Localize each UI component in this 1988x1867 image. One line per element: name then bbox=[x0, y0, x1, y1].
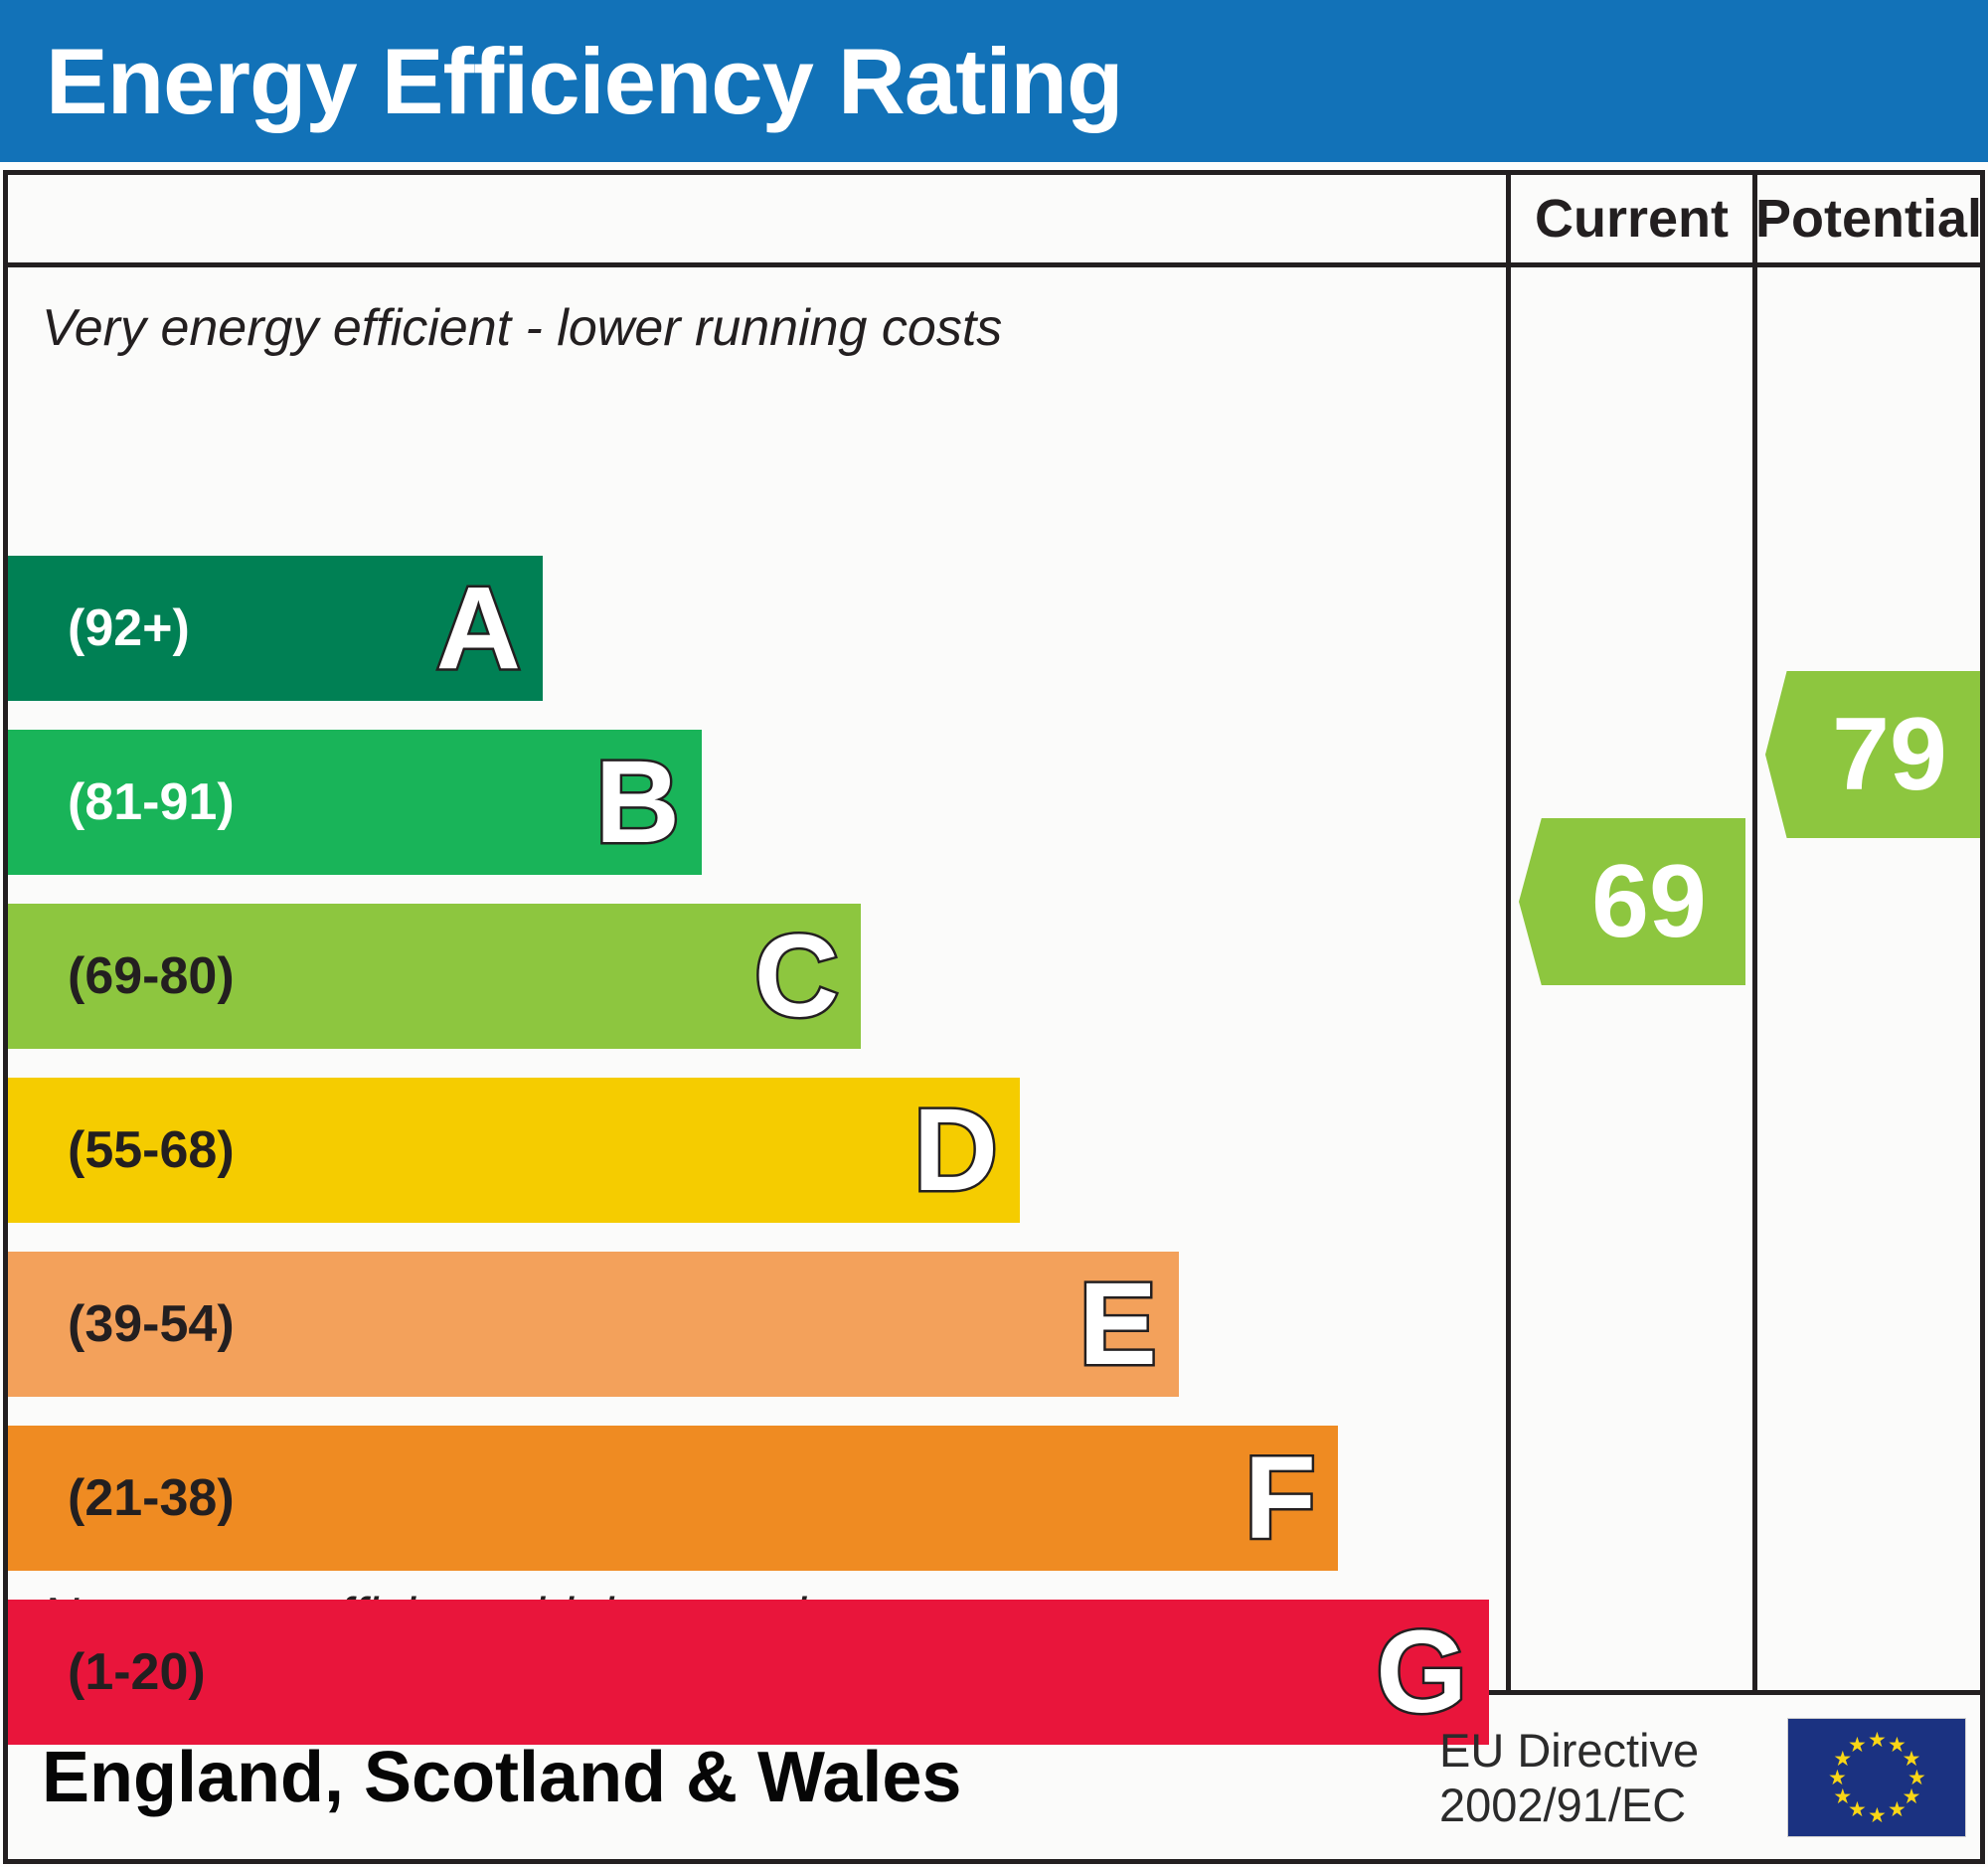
band-e: (39-54)E bbox=[8, 1252, 1179, 1397]
directive-line-1: EU Directive bbox=[1439, 1723, 1699, 1778]
band-letter-d: D bbox=[913, 1092, 998, 1209]
eu-flag-icon bbox=[1787, 1718, 1966, 1837]
potential-column-divider bbox=[1752, 175, 1757, 1695]
chart-frame: Current Potential Very energy efficient … bbox=[3, 170, 1985, 1864]
band-letter-f: F bbox=[1244, 1440, 1316, 1557]
directive-line-2: 2002/91/EC bbox=[1439, 1778, 1699, 1832]
band-c: (69-80)C bbox=[8, 904, 861, 1049]
footer-row: England, Scotland & Wales EU Directive 2… bbox=[8, 1695, 1980, 1859]
potential-rating-marker: 79 bbox=[1765, 671, 1980, 838]
column-header-current: Current bbox=[1511, 175, 1752, 262]
band-range-a: (92+) bbox=[68, 600, 190, 656]
band-letter-e: E bbox=[1078, 1266, 1157, 1383]
caption-very-efficient: Very energy efficient - lower running co… bbox=[42, 298, 1002, 358]
band-f: (21-38)F bbox=[8, 1426, 1338, 1571]
band-range-g: (1-20) bbox=[68, 1644, 206, 1700]
band-range-d: (55-68) bbox=[68, 1122, 235, 1178]
band-range-c: (69-80) bbox=[68, 948, 235, 1004]
band-range-e: (39-54) bbox=[68, 1296, 235, 1352]
band-a: (92+)A bbox=[8, 556, 543, 701]
footer-directive-label: EU Directive 2002/91/EC bbox=[1439, 1723, 1699, 1832]
band-range-b: (81-91) bbox=[68, 774, 235, 830]
page-title: Energy Efficiency Rating bbox=[46, 26, 1122, 137]
energy-efficiency-rating-chart: Energy Efficiency Rating Current Potenti… bbox=[0, 0, 1988, 1867]
bands-area: Very energy efficient - lower running co… bbox=[8, 267, 1501, 1690]
current-rating-marker-value: 69 bbox=[1558, 850, 1707, 953]
current-column-divider bbox=[1506, 175, 1511, 1695]
potential-rating-marker-value: 79 bbox=[1798, 703, 1947, 806]
band-letter-b: B bbox=[595, 744, 680, 861]
footer-region-label: England, Scotland & Wales bbox=[42, 1738, 961, 1817]
band-letter-c: C bbox=[754, 918, 839, 1035]
band-d: (55-68)D bbox=[8, 1078, 1020, 1223]
band-range-f: (21-38) bbox=[68, 1470, 235, 1526]
column-header-potential: Potential bbox=[1757, 175, 1980, 262]
band-letter-a: A bbox=[436, 570, 521, 687]
current-rating-marker: 69 bbox=[1519, 818, 1745, 985]
chart-title-bar: Energy Efficiency Rating bbox=[0, 0, 1988, 162]
band-b: (81-91)B bbox=[8, 730, 702, 875]
